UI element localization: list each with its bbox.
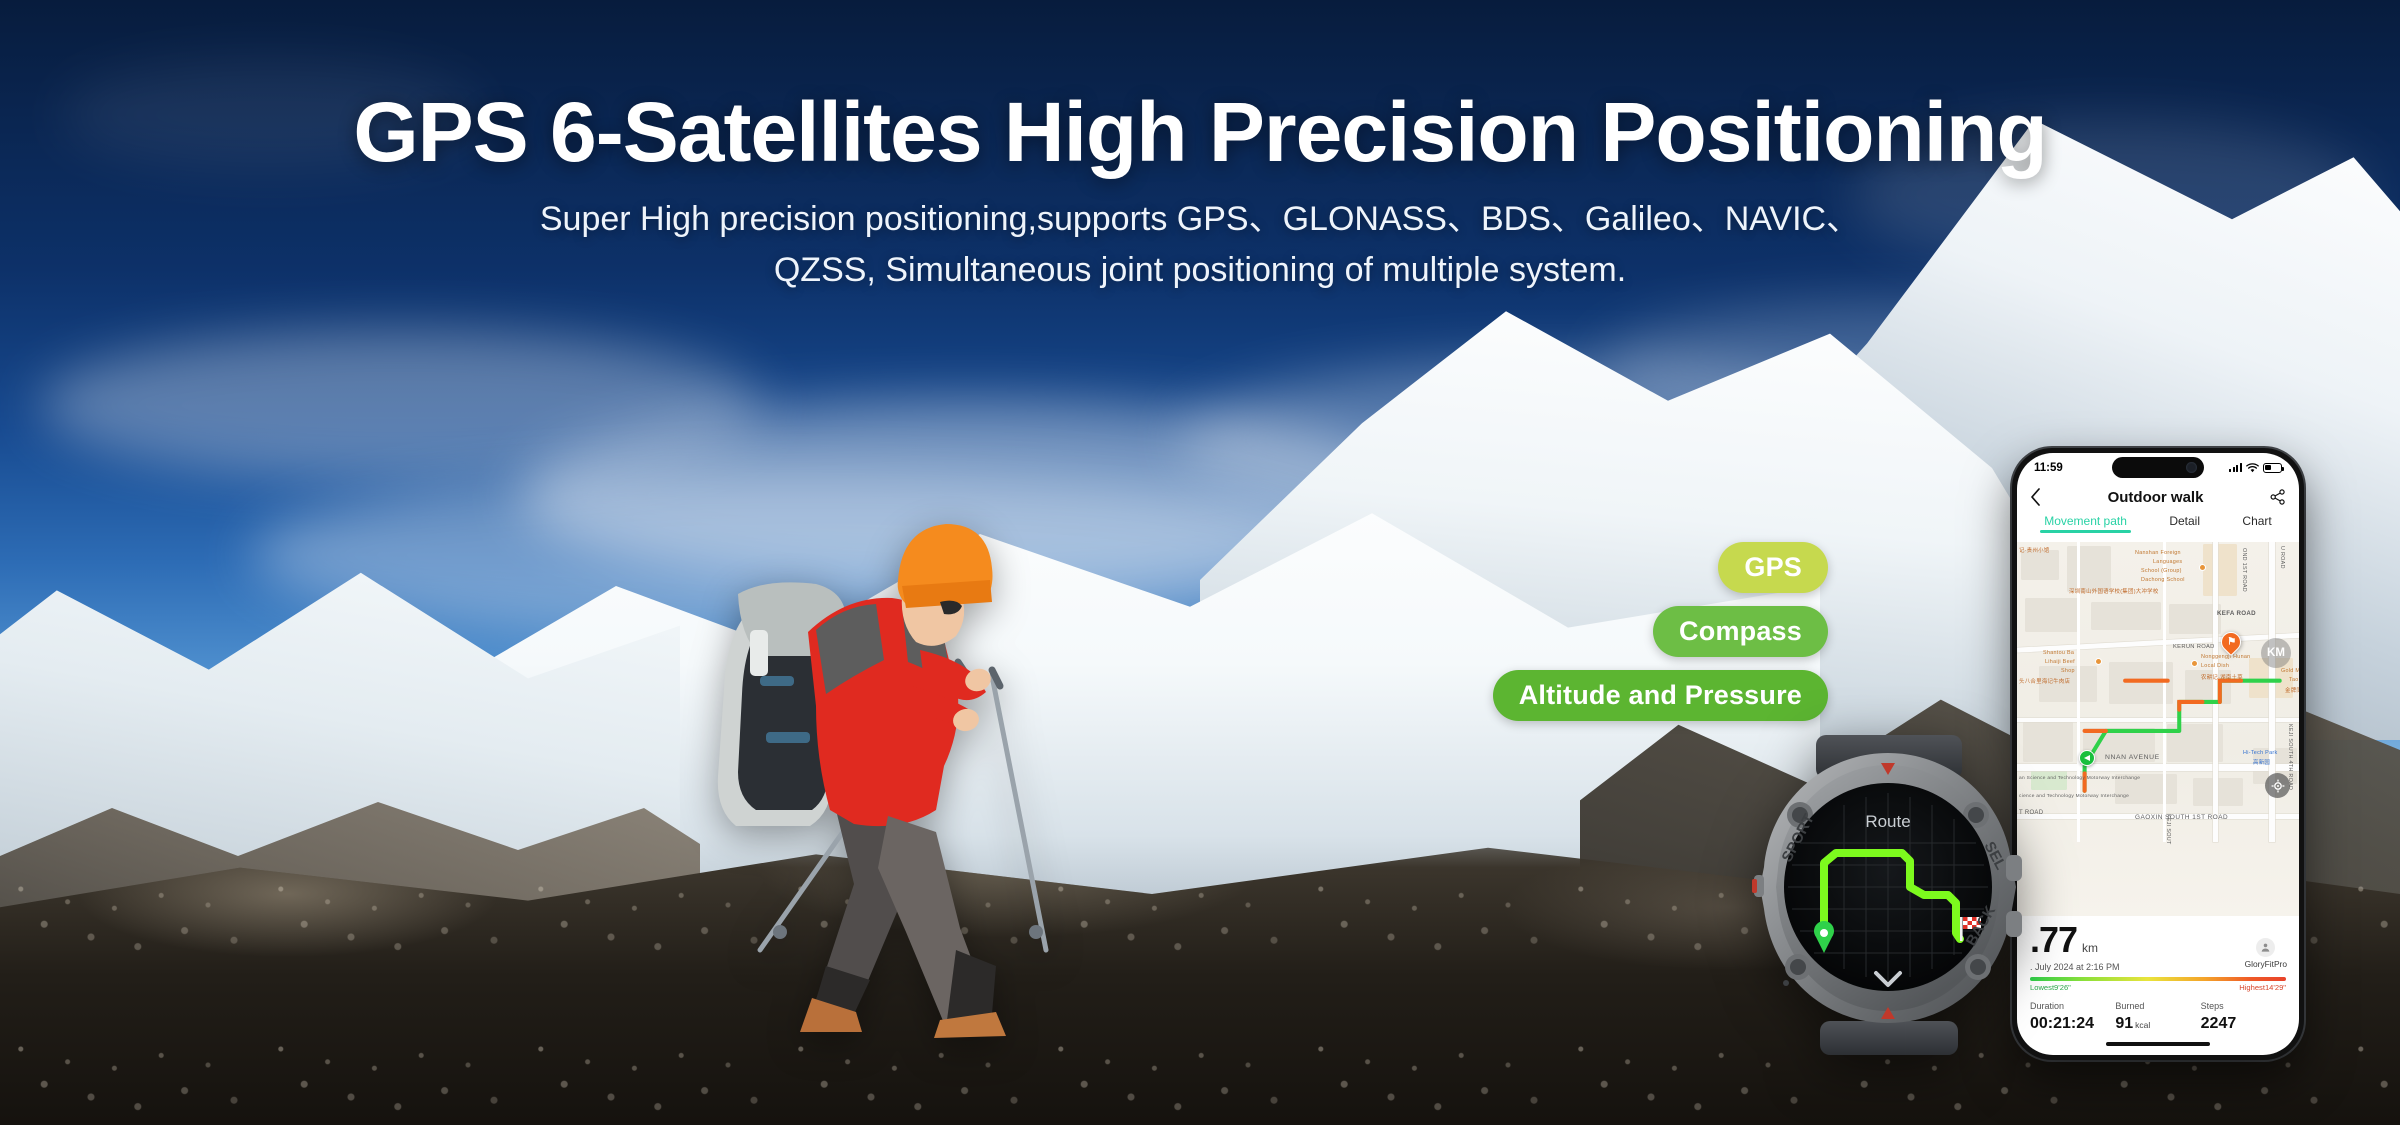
map-scale-badge: KM — [2261, 638, 2291, 668]
phone-screen: 11:59 Outdoor walk — [2017, 453, 2299, 1055]
stat-number: 91 — [2115, 1015, 2133, 1032]
map-label: GAOXIN SOUTH 1ST ROAD — [2135, 814, 2228, 821]
map-label: Shop — [2061, 668, 2075, 674]
feature-pill-label: Altitude and Pressure — [1519, 680, 1802, 710]
route-start-marker — [2079, 750, 2095, 766]
watch-screen-title: Route — [1865, 812, 1910, 831]
map-label: Shantou Ba — [2043, 650, 2074, 656]
tab-detail[interactable]: Detail — [2169, 514, 2200, 533]
headline-block: GPS 6-Satellites High Precision Position… — [0, 88, 2400, 296]
feature-pill-compass[interactable]: Compass — [1653, 606, 1828, 657]
map-label: 深圳南山外国语学校(集团)大冲学校 — [2069, 587, 2159, 595]
smartphone-mockup: 11:59 Outdoor walk — [2012, 448, 2304, 1060]
activity-stats: Duration 00:21:24 Burned 91kcal Steps 22… — [2017, 992, 2299, 1033]
status-time: 11:59 — [2034, 462, 2063, 474]
map-poi-dot — [2191, 660, 2198, 667]
map-label: Nonggengji Hunan — [2201, 654, 2250, 660]
tab-chart[interactable]: Chart — [2242, 514, 2271, 533]
stat-unit: kcal — [2135, 1020, 2150, 1030]
map-label: KEFA ROAD — [2217, 610, 2256, 617]
brand-name: GloryFitPro — [2245, 959, 2287, 969]
stat-steps: Steps 2247 — [2201, 1001, 2286, 1033]
app-brand: GloryFitPro — [2245, 938, 2287, 969]
map-label: Hi-Tech Park — [2243, 750, 2277, 756]
subtitle-line-1: Super High precision positioning,support… — [0, 194, 2400, 245]
map-label: KERUN ROAD — [2173, 644, 2215, 650]
map-label: NNAN AVENUE — [2105, 754, 2160, 761]
map-label: Tao — [2289, 677, 2299, 683]
map-label: 头八合里海记牛肉店 — [2019, 677, 2070, 685]
map-label: Nanshan Foreign — [2135, 550, 2181, 556]
map-label: School (Group) — [2141, 568, 2182, 574]
map-label: 高新园 — [2253, 758, 2270, 766]
map-poi-dot — [2199, 564, 2206, 571]
stat-duration: Duration 00:21:24 — [2030, 1001, 2115, 1033]
smartwatch-mockup: Route SPORT SEL BACK — [1738, 735, 2038, 1055]
phone-nav-bar: Outdoor walk — [2017, 480, 2299, 514]
phone-tab-bar: Movement path Detail Chart — [2017, 514, 2299, 542]
map-label: Languages — [2153, 559, 2182, 565]
feature-pill-altitude-pressure[interactable]: Altitude and Pressure — [1493, 670, 1828, 721]
battery-icon — [2263, 463, 2282, 473]
stat-label: Duration — [2030, 1001, 2115, 1011]
front-camera-icon — [2186, 462, 2197, 473]
page-title: GPS 6-Satellites High Precision Position… — [0, 88, 2400, 176]
map-label: Dachong School — [2141, 577, 2185, 583]
map-label: U ROAD — [2279, 546, 2285, 569]
locate-crosshair-icon[interactable] — [2265, 773, 2290, 798]
route-polyline — [2017, 542, 2299, 916]
map-label: Gold M — [2281, 668, 2299, 674]
tab-movement-path[interactable]: Movement path — [2044, 514, 2127, 533]
status-indicators — [2229, 463, 2282, 473]
stat-burned: Burned 91kcal — [2115, 1001, 2200, 1033]
pace-highest: Highest14'29" — [2239, 983, 2286, 992]
distance-unit: km — [2082, 941, 2098, 955]
feature-pill-gps[interactable]: GPS — [1718, 542, 1828, 593]
wifi-icon — [2246, 463, 2259, 473]
page-title: Outdoor walk — [2108, 489, 2204, 506]
phone-status-bar: 11:59 — [2017, 453, 2299, 480]
map-label: 农耕记·湖南土菜 — [2201, 673, 2243, 681]
hero-banner: GPS 6-Satellites High Precision Position… — [0, 0, 2400, 1125]
map-label: Lihaiji Beef — [2045, 659, 2075, 665]
map-label: 记·贵州小馆 — [2019, 546, 2050, 554]
map-label: OND 1ST ROAD — [2241, 548, 2247, 592]
pace-gradient-bar — [2030, 977, 2286, 981]
map-view[interactable]: 记·贵州小馆 Nanshan Foreign Languages School … — [2017, 542, 2299, 916]
pace-labels: Lowest9'26" Highest14'29" — [2030, 983, 2286, 992]
feature-pill-label: Compass — [1679, 616, 1802, 646]
hiker-illustration — [640, 480, 1100, 1040]
gloryfitpro-logo-icon — [2256, 938, 2275, 957]
stat-value: 2247 — [2201, 1015, 2286, 1033]
stat-label: Steps — [2201, 1001, 2286, 1011]
chevron-left-icon[interactable] — [2030, 488, 2041, 506]
feature-pill-list: GPS Compass Altitude and Pressure — [1493, 542, 1828, 721]
feature-pill-label: GPS — [1744, 552, 1802, 582]
map-label: Local Dish — [2201, 663, 2229, 669]
home-indicator — [2017, 1033, 2299, 1055]
cellular-bars-icon — [2229, 463, 2242, 472]
stat-value: 00:21:24 — [2030, 1015, 2115, 1033]
page-subtitle: Super High precision positioning,support… — [0, 194, 2400, 296]
stat-label: Burned — [2115, 1001, 2200, 1011]
stat-value: 91kcal — [2115, 1015, 2200, 1033]
map-label: 金牌同 — [2285, 686, 2299, 694]
subtitle-line-2: QZSS, Simultaneous joint positioning of … — [0, 245, 2400, 296]
map-poi-dot — [2095, 658, 2102, 665]
dynamic-island — [2112, 457, 2204, 478]
map-label: KEJI SOUT — [2165, 814, 2171, 845]
share-icon[interactable] — [2270, 489, 2286, 505]
